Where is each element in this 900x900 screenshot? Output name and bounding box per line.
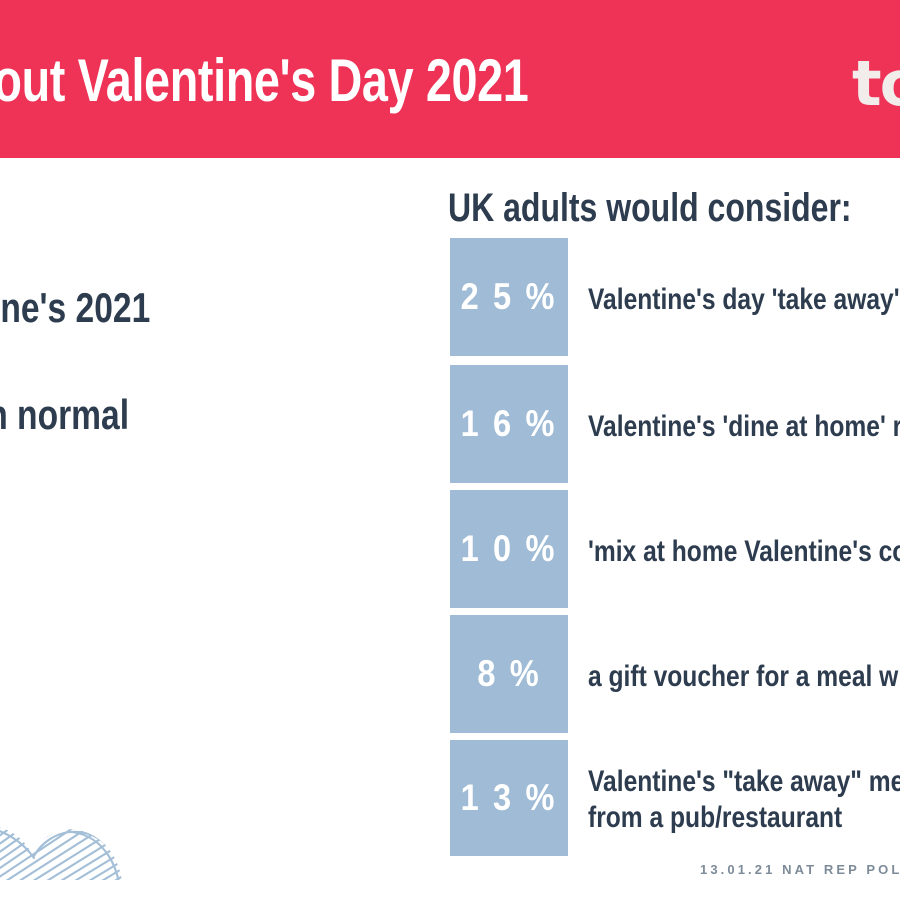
- stat-subtext: ear olds): [0, 576, 265, 602]
- consider-label: a gift voucher for a meal w: [588, 659, 900, 695]
- percent-value: 8 %: [477, 654, 541, 694]
- percent-value: 1 0 %: [461, 529, 557, 569]
- header-band: xcited about Valentine's Day 2021 to: [0, 0, 900, 158]
- consider-row: 8 % a gift voucher for a meal w: [448, 615, 900, 733]
- stat-headline: ND MORE than usual: [0, 516, 249, 562]
- percent-box: 1 3 %: [450, 740, 568, 856]
- brand-logo: to: [852, 50, 900, 118]
- consider-label: Valentine's "take away" me from a pub/re…: [588, 764, 900, 836]
- consider-row: 1 6 % Valentine's 'dine at home' r: [448, 365, 900, 483]
- consider-row: 1 3 % Valentine's "take away" me from a …: [448, 740, 900, 856]
- scribbled-heart-icon: [0, 792, 127, 880]
- percent-value: 2 5 %: [461, 277, 557, 317]
- left-stats-column: end to celebrate Valentine's 2021 ke a B…: [0, 180, 430, 880]
- percent-value: 1 3 %: [461, 778, 557, 818]
- infographic-canvas: xcited about Valentine's Day 2021 to end…: [0, 0, 900, 900]
- consider-list-column: UK adults would consider: 2 5 % Valentin…: [448, 180, 900, 890]
- stat-headline: ke a BIGGER effort than normal: [0, 392, 249, 438]
- consider-label: Valentine's day 'take away': [588, 282, 900, 318]
- percent-box: 8 %: [450, 615, 568, 733]
- percent-box: 1 6 %: [450, 365, 568, 483]
- stat-block: ND MORE than usual ear olds): [0, 516, 405, 602]
- stat-block: ke a BIGGER effort than normal year olds…: [0, 392, 405, 478]
- percent-box: 2 5 %: [450, 238, 568, 356]
- footer-source-note: 13.01.21 NAT REP POLL O: [700, 862, 900, 878]
- page-title: xcited about Valentine's Day 2021: [0, 46, 574, 116]
- consider-heading: UK adults would consider:: [448, 186, 852, 230]
- stat-block: end to celebrate Valentine's 2021: [0, 285, 405, 331]
- consider-row: 2 5 % Valentine's day 'take away': [448, 238, 900, 356]
- stat-subtext: year olds): [0, 452, 265, 478]
- consider-label: Valentine's 'dine at home' r: [588, 409, 900, 445]
- consider-row: 1 0 % 'mix at home Valentine's co: [448, 490, 900, 608]
- consider-label: 'mix at home Valentine's co: [588, 534, 900, 570]
- percent-box: 1 0 %: [450, 490, 568, 608]
- stat-headline: end to celebrate Valentine's 2021: [0, 285, 249, 331]
- percent-value: 1 6 %: [461, 404, 557, 444]
